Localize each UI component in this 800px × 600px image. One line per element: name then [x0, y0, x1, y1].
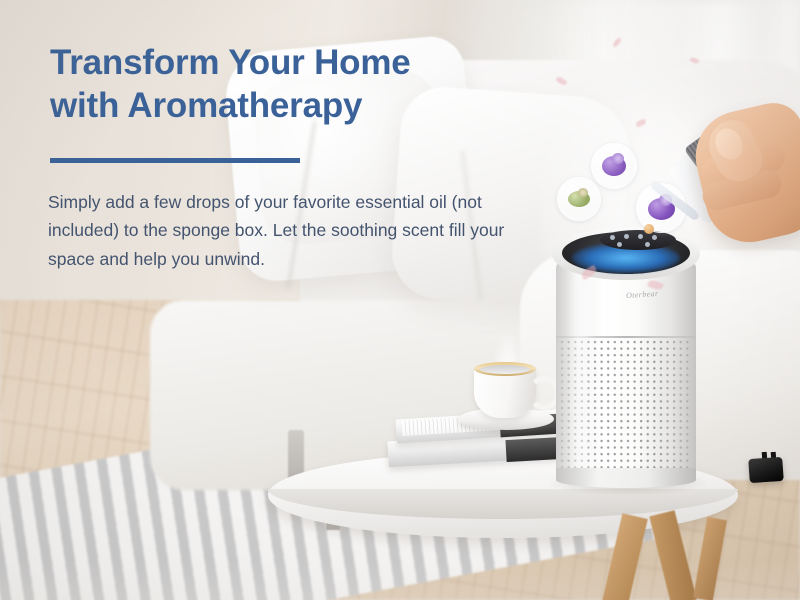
fan-speed-button-icon[interactable]: [624, 234, 629, 239]
timer-button-icon[interactable]: [638, 234, 643, 239]
filter-reset-button-icon[interactable]: [645, 242, 650, 247]
herb-bubble: [557, 177, 601, 221]
lock-button-icon[interactable]: [617, 242, 622, 247]
headline: Transform Your Home with Aromatherapy: [50, 42, 520, 127]
headline-line-1: Transform Your Home: [50, 42, 520, 85]
power-adapter: [748, 457, 784, 483]
divider-rule: [50, 158, 300, 163]
control-panel[interactable]: [600, 230, 676, 250]
purifier-base: [556, 468, 696, 488]
body-paragraph: Simply add a few drops of your favorite …: [48, 188, 548, 273]
cup-interior: [480, 365, 530, 374]
oil-drop: [644, 224, 654, 234]
lavender-bubble: [591, 143, 637, 189]
light-button-icon[interactable]: [652, 235, 657, 240]
power-button-icon[interactable]: [610, 235, 615, 240]
headline-line-2: with Aromatherapy: [50, 85, 520, 128]
marketing-banner: Oterbear Transform Your Home with Aromat…: [0, 0, 800, 600]
purifier-highlight: [568, 266, 594, 474]
